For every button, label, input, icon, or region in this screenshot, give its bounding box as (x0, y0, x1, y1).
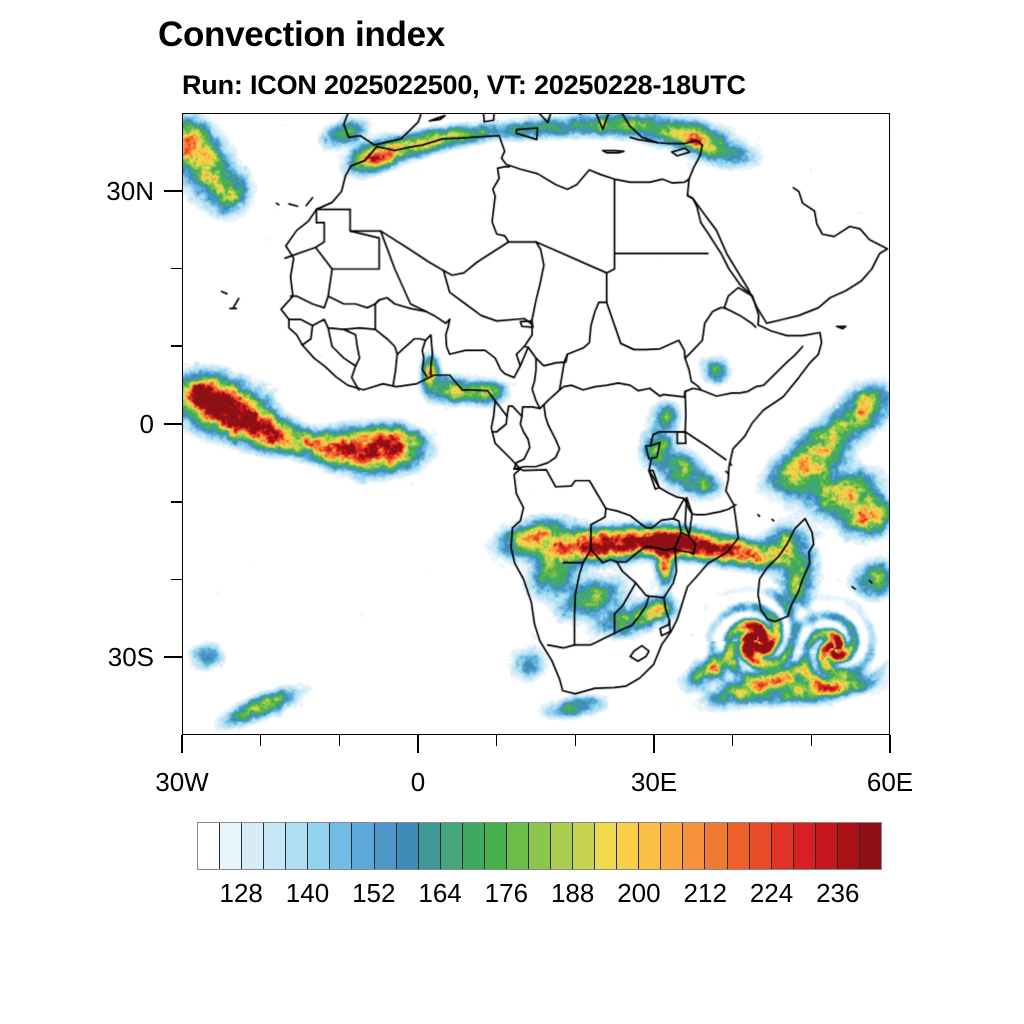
x-tick-minor (496, 735, 498, 746)
x-axis-label: 30E (631, 769, 677, 795)
x-axis-label: 60E (867, 769, 913, 795)
x-tick-minor (575, 735, 577, 746)
colorbar-cell (375, 823, 397, 869)
colorbar-cell (308, 823, 330, 869)
y-tick-major (164, 423, 182, 425)
colorbar-cell (529, 823, 551, 869)
colorbar-cell (352, 823, 374, 869)
colorbar-cell (595, 823, 617, 869)
x-axis-label: 30W (155, 769, 208, 795)
colorbar-tick-label: 152 (352, 880, 395, 906)
x-tick-major (653, 735, 655, 753)
x-tick-major (181, 735, 183, 753)
colorbar-tick-label: 164 (418, 880, 461, 906)
colorbar-cell (794, 823, 816, 869)
colorbar-cell (463, 823, 485, 869)
colorbar-cell (639, 823, 661, 869)
colorbar-cell (397, 823, 419, 869)
y-tick-major (164, 656, 182, 658)
colorbar-cell (419, 823, 441, 869)
colorbar-cell (198, 823, 220, 869)
y-tick-minor (171, 579, 182, 581)
x-axis-label: 0 (411, 769, 425, 795)
convection-index-field (183, 114, 889, 734)
colorbar-cell (573, 823, 595, 869)
y-axis-label: 30S (0, 644, 154, 670)
colorbar-tick-label: 236 (816, 880, 859, 906)
x-tick-minor (811, 735, 813, 746)
x-tick-major (417, 735, 419, 753)
colorbar-cell (838, 823, 860, 869)
colorbar-cell (264, 823, 286, 869)
colorbar-cell (816, 823, 838, 869)
y-axis-label: 30N (0, 178, 154, 204)
colorbar-cell (661, 823, 683, 869)
colorbar-cell (551, 823, 573, 869)
colorbar-tick-label: 188 (551, 880, 594, 906)
colorbar-tick-label: 128 (219, 880, 262, 906)
page-title: Convection index (158, 17, 445, 52)
colorbar-cell (705, 823, 727, 869)
x-tick-minor (732, 735, 734, 746)
colorbar: 128140152164176188200212224236 (197, 822, 882, 870)
colorbar-cell (617, 823, 639, 869)
colorbar-cell (772, 823, 794, 869)
x-tick-minor (260, 735, 262, 746)
colorbar-cell (860, 823, 881, 869)
colorbar-tick-label: 176 (485, 880, 528, 906)
colorbar-swatches (197, 822, 882, 870)
y-tick-major (164, 190, 182, 192)
map-plot-area (182, 113, 890, 735)
colorbar-cell (286, 823, 308, 869)
y-tick-minor (171, 501, 182, 503)
colorbar-cell (441, 823, 463, 869)
colorbar-cell (485, 823, 507, 869)
y-axis-label: 0 (0, 411, 154, 437)
colorbar-cell (728, 823, 750, 869)
colorbar-cell (330, 823, 352, 869)
colorbar-tick-label: 212 (684, 880, 727, 906)
x-tick-major (889, 735, 891, 753)
colorbar-tick-label: 200 (617, 880, 660, 906)
x-tick-minor (339, 735, 341, 746)
colorbar-cell (750, 823, 772, 869)
colorbar-cell (683, 823, 705, 869)
colorbar-tick-label: 224 (750, 880, 793, 906)
colorbar-cell (220, 823, 242, 869)
run-valid-time-subtitle: Run: ICON 2025022500, VT: 20250228-18UTC (182, 72, 746, 99)
colorbar-tick-label: 140 (286, 880, 329, 906)
colorbar-cell (242, 823, 264, 869)
colorbar-cell (507, 823, 529, 869)
y-tick-minor (171, 345, 182, 347)
y-tick-minor (171, 268, 182, 270)
